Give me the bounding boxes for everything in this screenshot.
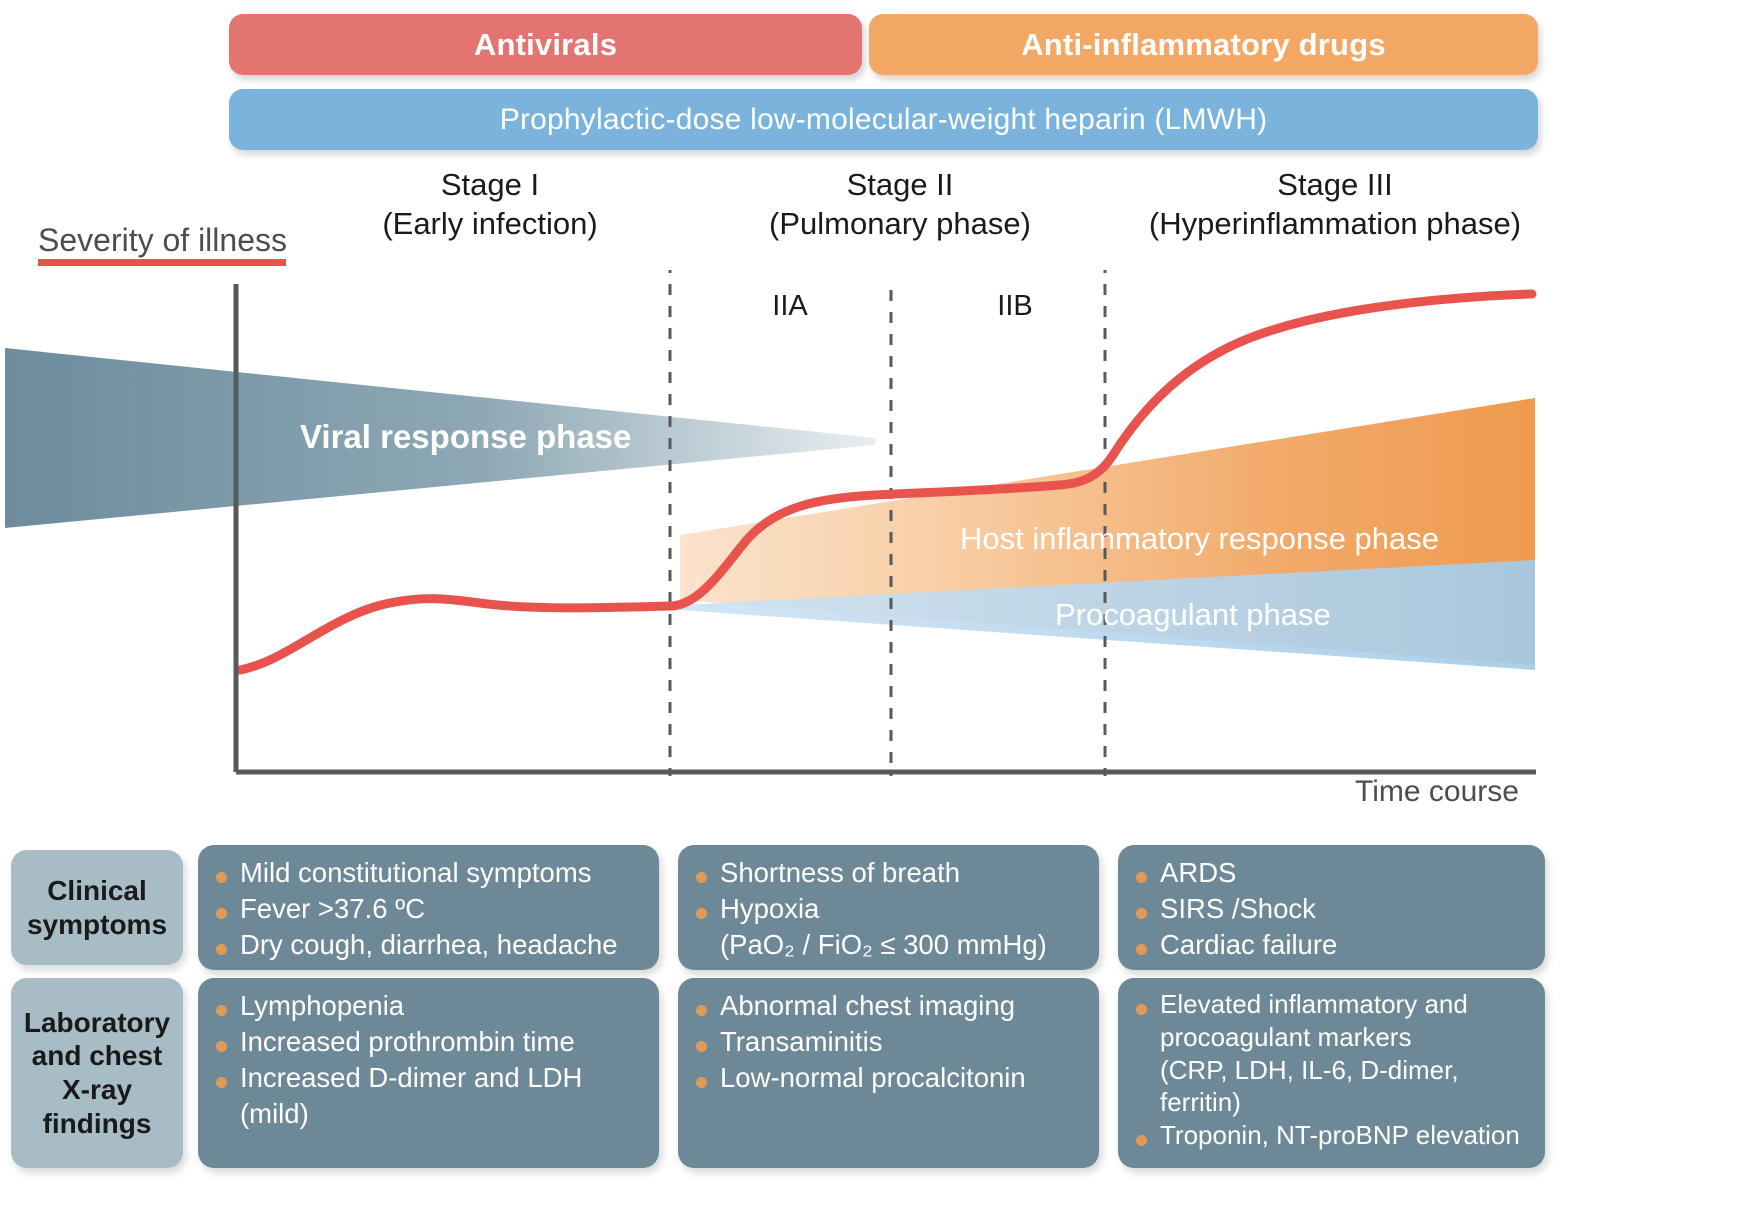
list-item-text: (CRP, LDH, IL-6, D-dimer, ferritin) xyxy=(1160,1055,1459,1118)
stage-caption-1: Stage I (Early infection) xyxy=(300,165,680,244)
bullet-icon xyxy=(216,944,227,955)
bullet-icon xyxy=(1136,872,1147,883)
bullet-icon xyxy=(1136,944,1147,955)
list-item-text: Shortness of breath xyxy=(720,857,960,888)
table-cell-clinical-stage2: Shortness of breathHypoxia(PaO₂ / FiO₂ ≤… xyxy=(678,845,1099,970)
list-item: Dry cough, diarrhea, headache xyxy=(214,927,645,963)
list-item: Troponin, NT-proBNP elevation xyxy=(1134,1119,1531,1152)
stage-subtitle-3: (Hyperinflammation phase) xyxy=(1120,204,1550,243)
list-item: Transaminitis xyxy=(694,1024,1085,1060)
list-item: (PaO₂ / FiO₂ ≤ 300 mmHg) xyxy=(694,927,1085,963)
list-item: Lymphopenia xyxy=(214,988,645,1024)
list-item-text: Dry cough, diarrhea, headache xyxy=(240,929,618,960)
bullet-icon xyxy=(1136,1135,1147,1146)
list-item-text: SIRS /Shock xyxy=(1160,893,1316,924)
list-item: Increased D-dimer and LDH (mild) xyxy=(214,1060,645,1132)
row-label-line: Laboratory xyxy=(24,1006,170,1040)
therapy-bar-antivirals: Antivirals xyxy=(229,14,862,75)
bullet-icon xyxy=(216,908,227,919)
list-item-text: Fever >37.6 ºC xyxy=(240,893,425,924)
list-item: Shortness of breath xyxy=(694,855,1085,891)
list-item-text: ARDS xyxy=(1160,857,1236,888)
stage-title-2: Stage II xyxy=(700,165,1100,204)
bullet-icon xyxy=(1136,908,1147,919)
table-cell-clinical-stage3: ARDSSIRS /ShockCardiac failure xyxy=(1118,845,1545,970)
row-label-line: and chest xyxy=(24,1039,170,1073)
row-label-line: symptoms xyxy=(27,908,167,942)
band-label-inflammatory: Host inflammatory response phase xyxy=(960,521,1439,556)
stage-title-3: Stage III xyxy=(1120,165,1550,204)
list-item: SIRS /Shock xyxy=(1134,891,1531,927)
bullet-icon xyxy=(696,872,707,883)
therapy-bar-anti-inflammatory: Anti-inflammatory drugs xyxy=(869,14,1538,75)
stage-caption-3: Stage III (Hyperinflammation phase) xyxy=(1120,165,1550,244)
row-label-line: Clinical xyxy=(27,874,167,908)
list-item: Hypoxia xyxy=(694,891,1085,927)
bullet-icon xyxy=(696,1077,707,1088)
list-item: Mild constitutional symptoms xyxy=(214,855,645,891)
list-item-text: Lymphopenia xyxy=(240,990,404,1021)
bullet-icon xyxy=(216,1005,227,1016)
list-item: ARDS xyxy=(1134,855,1531,891)
list-item-text: Abnormal chest imaging xyxy=(720,990,1015,1021)
list-item-text: Increased D-dimer and LDH (mild) xyxy=(240,1062,582,1129)
list-item-text: Troponin, NT-proBNP elevation xyxy=(1160,1120,1520,1150)
list-item: Abnormal chest imaging xyxy=(694,988,1085,1024)
list-item: procoagulant markers xyxy=(1134,1021,1531,1054)
stage-caption-2: Stage II (Pulmonary phase) xyxy=(700,165,1100,244)
bullet-icon xyxy=(216,872,227,883)
list-item: (CRP, LDH, IL-6, D-dimer, ferritin) xyxy=(1134,1054,1531,1120)
row-label-line: findings xyxy=(24,1107,170,1141)
y-axis-label: Severity of illness xyxy=(38,222,287,259)
table-cell-lab-stage3: Elevated inflammatory andprocoagulant ma… xyxy=(1118,978,1545,1168)
stage-subtitle-1: (Early infection) xyxy=(300,204,680,243)
list-item-text: procoagulant markers xyxy=(1160,1022,1411,1052)
list-item: Increased prothrombin time xyxy=(214,1024,645,1060)
row-label-line: X-ray xyxy=(24,1073,170,1107)
list-item-text: Elevated inflammatory and xyxy=(1160,989,1468,1019)
severity-chart: Viral response phase Host inflammatory r… xyxy=(0,270,1560,780)
bullet-icon xyxy=(696,1041,707,1052)
band-label-viral: Viral response phase xyxy=(300,418,631,455)
bullet-icon xyxy=(216,1077,227,1088)
bullet-icon xyxy=(696,908,707,919)
bullet-icon xyxy=(696,1005,707,1016)
list-item-text: (PaO₂ / FiO₂ ≤ 300 mmHg) xyxy=(720,929,1047,960)
list-item: Elevated inflammatory and xyxy=(1134,988,1531,1021)
list-item: Fever >37.6 ºC xyxy=(214,891,645,927)
list-item-text: Cardiac failure xyxy=(1160,929,1337,960)
list-item: Low-normal procalcitonin xyxy=(694,1060,1085,1096)
list-item-text: Transaminitis xyxy=(720,1026,883,1057)
stage-title-1: Stage I xyxy=(300,165,680,204)
list-item-text: Mild constitutional symptoms xyxy=(240,857,592,888)
list-item-text: Low-normal procalcitonin xyxy=(720,1062,1026,1093)
stage-subtitle-2: (Pulmonary phase) xyxy=(700,204,1100,243)
bullet-icon xyxy=(216,1041,227,1052)
table-cell-lab-stage1: LymphopeniaIncreased prothrombin timeInc… xyxy=(198,978,659,1168)
list-item: Cardiac failure xyxy=(1134,927,1531,963)
row-label-lab-findings: Laboratory and chest X-ray findings xyxy=(11,978,183,1168)
row-label-clinical-symptoms: Clinical symptoms xyxy=(11,850,183,965)
bullet-icon xyxy=(1136,1004,1147,1015)
list-item-text: Increased prothrombin time xyxy=(240,1026,575,1057)
y-axis-label-underline xyxy=(38,259,286,266)
x-axis-label: Time course xyxy=(1355,775,1519,809)
list-item-text: Hypoxia xyxy=(720,893,819,924)
diagram-canvas: Antivirals Anti-inflammatory drugs Proph… xyxy=(0,0,1760,1211)
therapy-bar-lmwh: Prophylactic-dose low-molecular-weight h… xyxy=(229,89,1538,150)
table-cell-clinical-stage1: Mild constitutional symptomsFever >37.6 … xyxy=(198,845,659,970)
band-label-procoagulant: Procoagulant phase xyxy=(1055,597,1331,632)
table-cell-lab-stage2: Abnormal chest imagingTransaminitisLow-n… xyxy=(678,978,1099,1168)
